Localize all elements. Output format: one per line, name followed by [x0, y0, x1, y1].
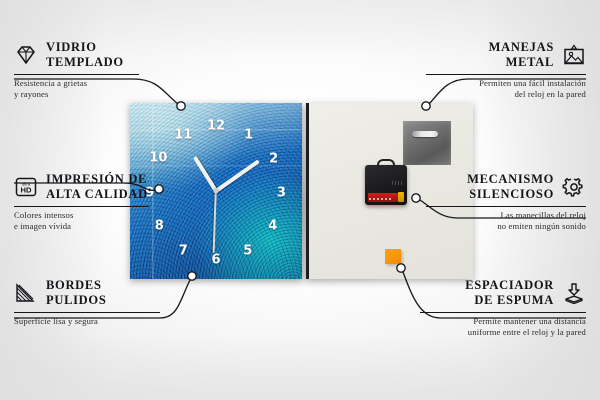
- feature-divider: [14, 206, 149, 207]
- quartz-mechanism: [365, 165, 407, 205]
- feature-description: Colores intensos e imagen vívida: [14, 210, 149, 233]
- infographic-canvas: 12 1 2 3 4 5 6 7 8 9 10 11: [0, 0, 600, 400]
- feature-title: MECANISMO SILENCIOSO: [467, 172, 554, 202]
- metal-hanger-icon: [403, 121, 451, 165]
- feature-divider: [426, 74, 586, 75]
- feature-title-line1: ESPACIADOR: [465, 278, 554, 292]
- clock-numeral-4: 4: [268, 220, 277, 233]
- feature-title-line2: TEMPLADO: [46, 55, 124, 69]
- product-photo: 12 1 2 3 4 5 6 7 8 9 10 11: [130, 103, 470, 281]
- feature-description: Superficie lisa y segura: [14, 316, 160, 328]
- feature-divider: [14, 312, 160, 313]
- clock-hour-hand: [193, 156, 218, 192]
- feature-title-line2: ALTA CALIDAD: [46, 187, 148, 201]
- feature-description: Permiten una fácil instalación del reloj…: [426, 78, 586, 101]
- feature-manejas-metal[interactable]: MANEJAS METAL Permiten una fácil instala…: [426, 40, 586, 101]
- feature-desc-line2: y rayones: [14, 89, 49, 99]
- feature-desc-line1: Colores intensos: [14, 210, 73, 220]
- feature-description: Permite mantener una distancia uniforme …: [420, 316, 586, 339]
- clock-numeral-10: 10: [149, 151, 167, 164]
- ultra-hd-icon: ultraHD: [14, 176, 38, 198]
- foam-spacer-pad: [385, 249, 401, 264]
- feature-desc-line1: Permiten una fácil instalación: [479, 78, 586, 88]
- mechanism-shaft: [377, 159, 395, 169]
- feature-bordes-pulidos[interactable]: BORDES PULIDOS Superficie lisa y segura: [14, 278, 160, 327]
- wall-hanging-frame-icon: [562, 44, 586, 66]
- hanger-slot: [412, 131, 438, 137]
- feature-desc-line2: uniforme entre el reloj y la pared: [468, 327, 586, 337]
- clock-numeral-8: 8: [155, 220, 164, 233]
- feature-title-line1: MECANISMO: [467, 172, 554, 186]
- clock-center-cap: [214, 189, 219, 194]
- feature-desc-line1: Superficie lisa y segura: [14, 316, 98, 326]
- feature-title-line1: BORDES: [46, 278, 102, 292]
- feature-title-line2: METAL: [506, 55, 554, 69]
- feature-title-line1: MANEJAS: [489, 40, 554, 54]
- feature-espaciador-espuma[interactable]: ESPACIADOR DE ESPUMA Permite mantener un…: [420, 278, 586, 339]
- svg-text:HD: HD: [21, 185, 32, 194]
- clock-numeral-7: 7: [179, 244, 188, 257]
- clock-numeral-1: 1: [244, 128, 253, 141]
- battery-terminal: [398, 192, 404, 202]
- clock-minute-hand: [215, 160, 260, 193]
- polished-edge-icon: [14, 282, 38, 304]
- feature-title: ESPACIADOR DE ESPUMA: [465, 278, 554, 308]
- feature-divider: [426, 206, 586, 207]
- feature-desc-line1: Las manecillas del reloj: [501, 210, 586, 220]
- clock-numeral-11: 11: [174, 128, 192, 141]
- feature-desc-line1: Resistencia a grietas: [14, 78, 87, 88]
- clock-numeral-2: 2: [269, 153, 278, 166]
- foam-spacer-icon: [562, 282, 586, 304]
- feature-mecanismo-silencioso[interactable]: MECANISMO SILENCIOSO Las manecillas del …: [426, 172, 586, 233]
- feature-desc-line1: Permite mantener una distancia: [473, 316, 586, 326]
- clock-front-face: 12 1 2 3 4 5 6 7 8 9 10 11: [130, 103, 302, 279]
- feature-title-line2: SILENCIOSO: [469, 187, 554, 201]
- feature-description: Resistencia a grietas y rayones: [14, 78, 139, 101]
- feature-desc-line2: del reloj en la pared: [515, 89, 586, 99]
- feature-title: IMPRESIÓN DE ALTA CALIDAD: [46, 172, 148, 202]
- clock-numeral-12: 12: [207, 119, 225, 132]
- feature-vidrio-templado[interactable]: VIDRIO TEMPLADO Resistencia a grietas y …: [14, 40, 139, 101]
- clock-numeral-5: 5: [243, 244, 252, 257]
- gear-icon: [562, 176, 586, 198]
- feature-title: MANEJAS METAL: [489, 40, 554, 70]
- feature-description: Las manecillas del reloj no emiten ningú…: [426, 210, 586, 233]
- feature-title-line2: DE ESPUMA: [474, 293, 554, 307]
- clock-second-hand: [213, 191, 217, 253]
- diamond-icon: [14, 44, 38, 66]
- clock-dial: 12 1 2 3 4 5 6 7 8 9 10 11: [130, 103, 302, 279]
- feature-title-line2: PULIDOS: [46, 293, 106, 307]
- feature-title-line1: VIDRIO: [46, 40, 97, 54]
- feature-title: VIDRIO TEMPLADO: [46, 40, 124, 70]
- feature-desc-line2: no emiten ningún sonido: [497, 221, 586, 231]
- feature-divider: [420, 312, 586, 313]
- feature-title: BORDES PULIDOS: [46, 278, 106, 308]
- mechanism-detail: [392, 181, 402, 185]
- feature-desc-line2: e imagen vívida: [14, 221, 71, 231]
- clock-numeral-3: 3: [277, 186, 286, 199]
- battery-label: [369, 198, 393, 200]
- feature-title-line1: IMPRESIÓN DE: [46, 172, 147, 186]
- feature-impresion-alta-calidad[interactable]: ultraHD IMPRESIÓN DE ALTA CALIDAD Colore…: [14, 172, 149, 233]
- feature-divider: [14, 74, 139, 75]
- clock-numeral-6: 6: [211, 253, 220, 266]
